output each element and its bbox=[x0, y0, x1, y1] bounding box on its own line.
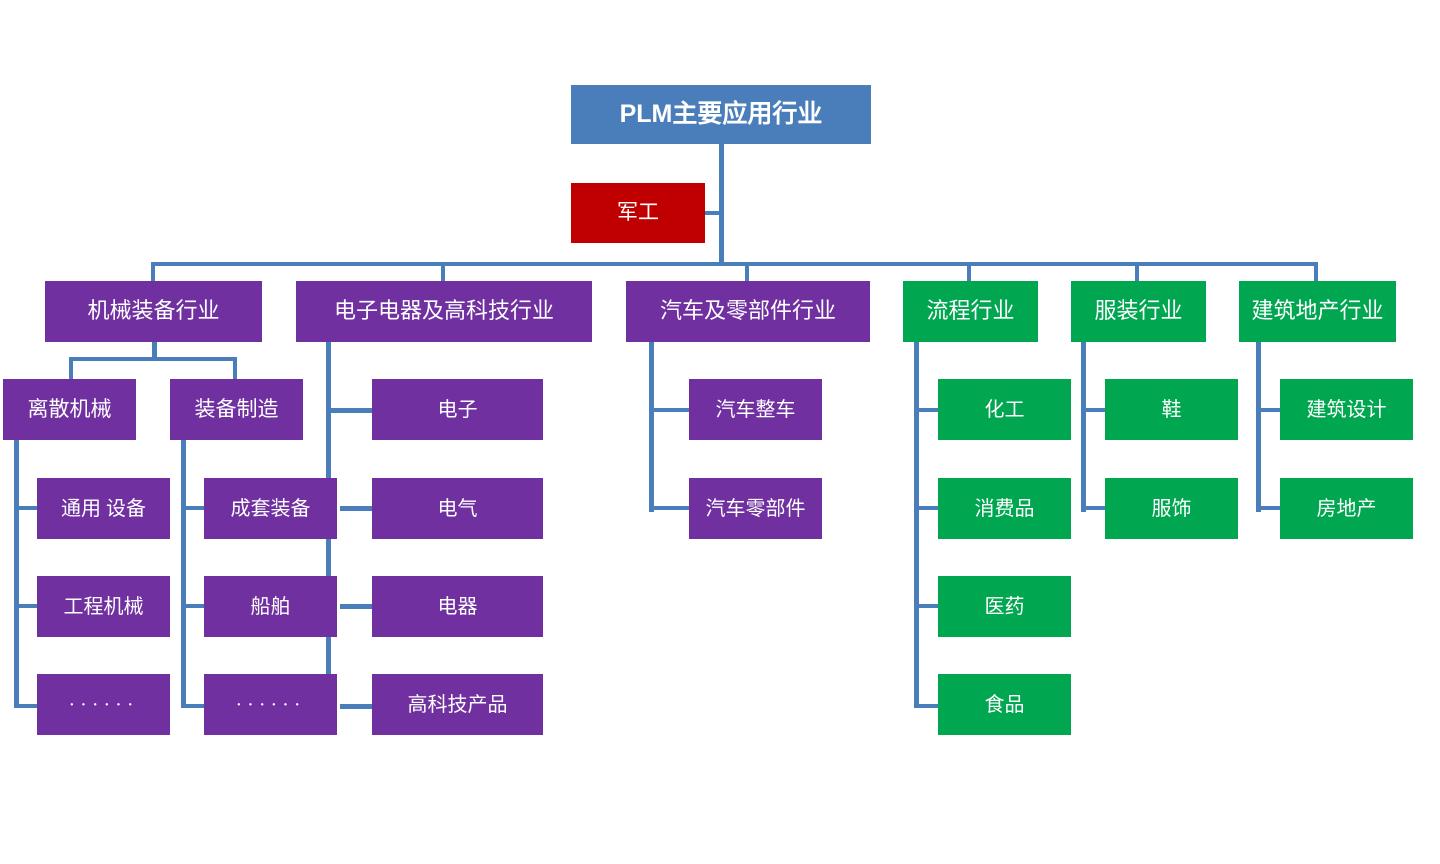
node-real-estate-label: 房地产 bbox=[1317, 498, 1377, 520]
connector-discrete-rail bbox=[14, 440, 19, 708]
node-complete-sets[interactable]: 成套装备 bbox=[204, 478, 337, 539]
connector-equipment-link-2 bbox=[326, 539, 331, 576]
node-complete-sets-label: 成套装备 bbox=[231, 498, 311, 520]
connector-process-stub-2 bbox=[914, 506, 940, 510]
node-architectural-design-label: 建筑设计 bbox=[1307, 399, 1387, 421]
connector-electronics-stub-2 bbox=[340, 506, 372, 511]
node-machinery-label: 机械装备行业 bbox=[87, 299, 219, 323]
node-root-plm-label: PLM主要应用行业 bbox=[620, 101, 823, 129]
connector-electronics-stub-1 bbox=[330, 408, 372, 413]
node-equipment-more-label: ······ bbox=[236, 695, 306, 715]
connector-automotive-stub-1 bbox=[649, 408, 689, 412]
node-whole-vehicle[interactable]: 汽车整车 bbox=[689, 379, 822, 440]
node-general-equipment-label: 通用 设备 bbox=[61, 498, 146, 520]
node-chemical[interactable]: 化工 bbox=[938, 379, 1071, 440]
node-machinery[interactable]: 机械装备行业 bbox=[45, 281, 262, 342]
node-apparel[interactable]: 服装行业 bbox=[1071, 281, 1206, 342]
connector-apparel-stub-1 bbox=[1081, 408, 1107, 412]
node-shoes[interactable]: 鞋 bbox=[1105, 379, 1238, 440]
node-general-equipment[interactable]: 通用 设备 bbox=[37, 478, 170, 539]
node-auto-parts-label: 汽车零部件 bbox=[706, 498, 806, 520]
connector-drop-construction bbox=[1314, 262, 1318, 282]
node-electronics-label: 电子电器及高科技行业 bbox=[334, 299, 554, 323]
connector-electronics-stub-4 bbox=[340, 704, 372, 709]
node-process[interactable]: 流程行业 bbox=[903, 281, 1038, 342]
node-auto-parts[interactable]: 汽车零部件 bbox=[689, 478, 822, 539]
connector-process-rail bbox=[914, 342, 919, 708]
node-discrete-machinery[interactable]: 离散机械 bbox=[3, 379, 136, 440]
connector-machinery-bus bbox=[69, 357, 237, 361]
node-military-label: 军工 bbox=[617, 201, 659, 224]
org-chart-canvas: PLM主要应用行业 军工 机械装备行业 电子电器及高科技行业 汽车及零部件行业 … bbox=[0, 0, 1440, 864]
node-discrete-more-label: ······ bbox=[69, 695, 139, 715]
node-whole-vehicle-label: 汽车整车 bbox=[716, 399, 796, 421]
connector-apparel-stub-2 bbox=[1081, 506, 1107, 510]
node-military[interactable]: 军工 bbox=[571, 183, 705, 243]
node-ships-label: 船舶 bbox=[251, 596, 291, 618]
node-apparel-label: 服装行业 bbox=[1094, 299, 1182, 323]
node-electrical-label: 电气 bbox=[438, 498, 478, 520]
node-pharmaceutical-label: 医药 bbox=[985, 596, 1025, 618]
connector-drop-apparel bbox=[1135, 262, 1139, 282]
node-appliance-label: 电器 bbox=[438, 596, 478, 618]
node-food-label: 食品 bbox=[985, 694, 1025, 716]
node-construction-machinery-label: 工程机械 bbox=[64, 596, 144, 618]
node-electronic[interactable]: 电子 bbox=[372, 379, 543, 440]
node-electronics[interactable]: 电子电器及高科技行业 bbox=[296, 281, 592, 342]
node-equipment-manufacturing[interactable]: 装备制造 bbox=[170, 379, 303, 440]
connector-machinery-drop-discrete bbox=[69, 357, 73, 379]
node-construction-machinery[interactable]: 工程机械 bbox=[37, 576, 170, 637]
connector-root-spine bbox=[719, 144, 724, 264]
node-real-estate[interactable]: 房地产 bbox=[1280, 478, 1413, 539]
node-automotive[interactable]: 汽车及零部件行业 bbox=[626, 281, 870, 342]
connector-drop-electronics bbox=[441, 262, 445, 282]
node-ships[interactable]: 船舶 bbox=[204, 576, 337, 637]
connector-process-stub-4 bbox=[914, 704, 940, 708]
node-construction-label: 建筑地产行业 bbox=[1251, 299, 1383, 323]
connector-drop-machinery bbox=[151, 262, 155, 282]
connector-equipment-link-3 bbox=[326, 637, 331, 674]
node-shoes-label: 鞋 bbox=[1162, 399, 1182, 421]
node-food[interactable]: 食品 bbox=[938, 674, 1071, 735]
node-electronic-label: 电子 bbox=[438, 399, 478, 421]
connector-construction-rail bbox=[1256, 342, 1261, 512]
connector-electronics-stub-3 bbox=[340, 604, 372, 609]
node-consumer-goods[interactable]: 消费品 bbox=[938, 478, 1071, 539]
connector-machinery-drop-equipment bbox=[233, 357, 237, 379]
connector-drop-process bbox=[967, 262, 971, 282]
connector-process-stub-1 bbox=[914, 408, 940, 412]
node-electrical[interactable]: 电气 bbox=[372, 478, 543, 539]
connector-construction-stub-2 bbox=[1256, 506, 1282, 510]
connector-drop-automotive bbox=[745, 262, 749, 282]
node-chemical-label: 化工 bbox=[985, 399, 1025, 421]
connector-military-stub bbox=[705, 211, 723, 215]
node-appliance[interactable]: 电器 bbox=[372, 576, 543, 637]
node-automotive-label: 汽车及零部件行业 bbox=[660, 299, 836, 323]
node-consumer-goods-label: 消费品 bbox=[975, 498, 1035, 520]
node-pharmaceutical[interactable]: 医药 bbox=[938, 576, 1071, 637]
node-clothing-label: 服饰 bbox=[1152, 498, 1192, 520]
node-process-label: 流程行业 bbox=[926, 299, 1014, 323]
connector-construction-stub-1 bbox=[1256, 408, 1282, 412]
connector-level2-bus bbox=[151, 262, 1318, 266]
connector-equipment-rail bbox=[181, 440, 186, 708]
node-clothing[interactable]: 服饰 bbox=[1105, 478, 1238, 539]
node-discrete-machinery-label: 离散机械 bbox=[28, 398, 112, 421]
node-equipment-more[interactable]: ······ bbox=[204, 674, 337, 735]
connector-apparel-rail bbox=[1081, 342, 1086, 512]
connector-automotive-stub-2 bbox=[649, 506, 689, 510]
node-root-plm[interactable]: PLM主要应用行业 bbox=[571, 85, 871, 144]
node-hightech-products-label: 高科技产品 bbox=[408, 694, 508, 716]
node-construction[interactable]: 建筑地产行业 bbox=[1239, 281, 1396, 342]
connector-automotive-rail bbox=[649, 342, 654, 512]
node-equipment-manufacturing-label: 装备制造 bbox=[195, 398, 279, 421]
node-hightech-products[interactable]: 高科技产品 bbox=[372, 674, 543, 735]
node-discrete-more[interactable]: ······ bbox=[37, 674, 170, 735]
connector-process-stub-3 bbox=[914, 604, 940, 608]
node-architectural-design[interactable]: 建筑设计 bbox=[1280, 379, 1413, 440]
